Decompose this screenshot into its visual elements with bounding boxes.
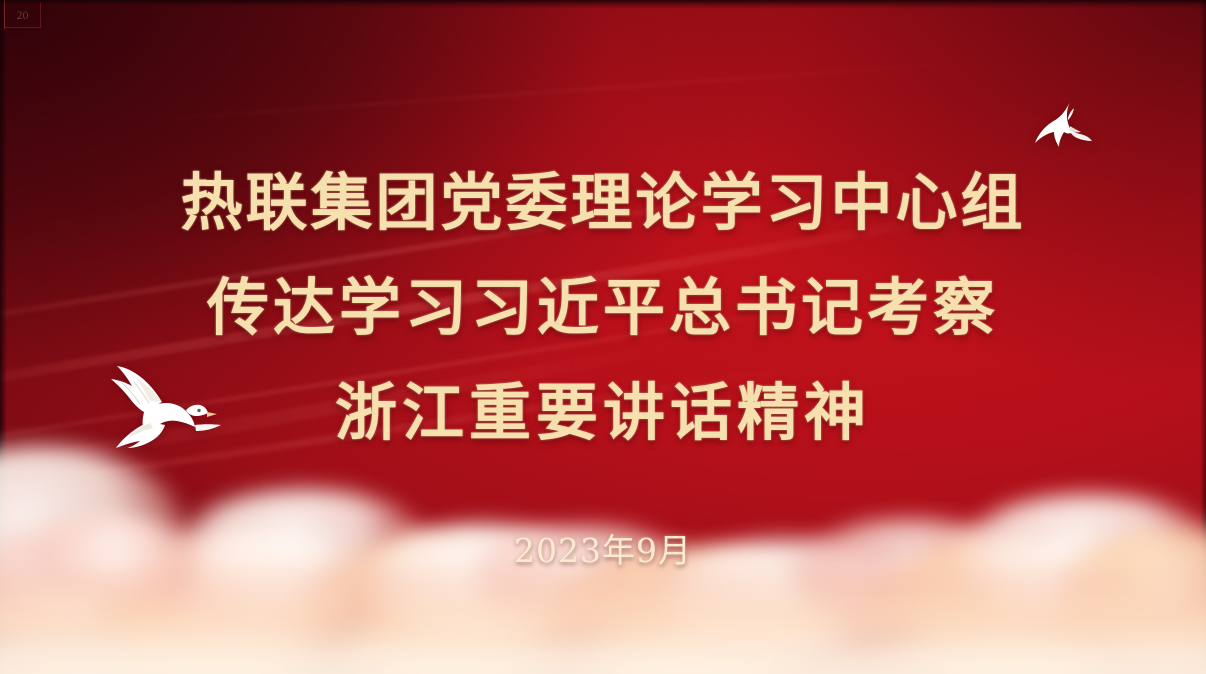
presentation-slide: 热联集团党委理论学习中心组 传达学习习近平总书记考察 浙江重要讲话精神 2023… xyxy=(0,0,1206,674)
title-line-3: 浙江重要讲话精神 xyxy=(0,360,1206,465)
corner-marker-tick xyxy=(4,0,5,30)
title-line-1: 热联集团党委理论学习中心组 xyxy=(0,150,1206,255)
title-line-2: 传达学习习近平总书记考察 xyxy=(0,255,1206,360)
slide-title-block: 热联集团党委理论学习中心组 传达学习习近平总书记考察 浙江重要讲话精神 xyxy=(0,150,1206,465)
corner-marker-label: 20 xyxy=(17,9,29,21)
top-edge-shading xyxy=(0,0,1206,9)
slide-date: 2023年9月 xyxy=(0,524,1206,572)
corner-marker: 20 xyxy=(4,3,41,28)
